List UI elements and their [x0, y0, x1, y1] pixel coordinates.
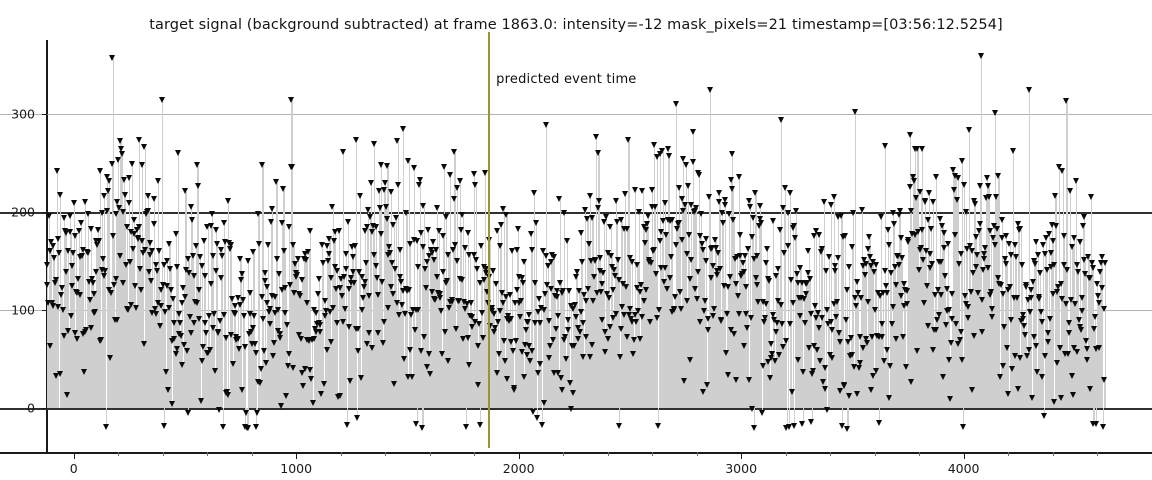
data-point-marker	[53, 277, 59, 283]
data-point-marker	[240, 297, 246, 303]
data-point-marker	[1053, 223, 1059, 229]
data-point-marker	[395, 182, 401, 188]
data-point-marker	[1015, 386, 1021, 392]
data-point-marker	[286, 224, 292, 230]
data-point-marker	[539, 422, 545, 428]
data-point-marker	[378, 162, 384, 168]
data-point-marker	[253, 350, 259, 356]
data-point-marker	[399, 302, 405, 308]
data-point-marker	[921, 300, 927, 306]
data-point-marker	[942, 273, 948, 279]
data-point-marker	[740, 260, 746, 266]
data-point-marker	[624, 334, 630, 340]
data-point-marker	[532, 280, 538, 286]
data-point-marker	[791, 423, 797, 429]
data-point-marker	[537, 361, 543, 367]
data-point-marker	[476, 321, 482, 327]
data-point-marker	[459, 212, 465, 218]
data-point-marker	[1017, 355, 1023, 361]
data-point-marker	[716, 190, 722, 196]
data-point-marker	[590, 298, 596, 304]
data-point-marker	[1039, 319, 1045, 325]
data-point-marker	[687, 276, 693, 282]
data-point-marker	[1102, 260, 1108, 266]
data-point-marker	[475, 382, 481, 388]
data-point-marker	[513, 338, 519, 344]
data-point-marker	[504, 376, 510, 382]
data-point-marker	[898, 235, 904, 241]
data-point-marker	[789, 389, 795, 395]
data-point-marker	[1101, 306, 1107, 312]
data-point-marker	[744, 325, 750, 331]
x-tick-label-0: 0	[70, 461, 78, 476]
data-point-marker	[1030, 279, 1036, 285]
data-point-marker	[571, 343, 577, 349]
y-tick-label-0: 0	[27, 400, 35, 415]
data-point-marker	[865, 246, 871, 252]
data-point-marker	[196, 287, 202, 293]
data-point-marker	[599, 281, 605, 287]
data-point-marker	[388, 284, 394, 290]
data-point-marker	[985, 265, 991, 271]
data-point-marker	[528, 231, 534, 237]
data-point-marker	[567, 380, 573, 386]
data-point-marker	[328, 275, 334, 281]
data-point-marker	[805, 248, 811, 254]
data-point-marker	[214, 241, 220, 247]
data-point-marker	[548, 286, 554, 292]
data-point-marker	[147, 240, 153, 246]
data-point-marker	[381, 319, 387, 325]
data-point-marker	[832, 268, 838, 274]
data-point-marker	[745, 246, 751, 252]
data-point-marker	[854, 391, 860, 397]
data-point-marker	[679, 237, 685, 243]
data-point-marker	[965, 304, 971, 310]
data-point-marker	[1069, 244, 1075, 250]
data-point-marker	[749, 406, 755, 412]
data-point-marker	[207, 347, 213, 353]
data-point-marker	[383, 204, 389, 210]
data-point-marker	[452, 242, 458, 248]
data-point-marker	[232, 311, 238, 317]
data-point-marker	[933, 327, 939, 333]
data-point-marker	[883, 283, 889, 289]
data-point-marker	[480, 335, 486, 341]
data-point-marker	[695, 269, 701, 275]
data-point-marker	[1058, 395, 1064, 401]
data-point-marker	[498, 222, 504, 228]
data-point-marker	[1027, 309, 1033, 315]
data-point-marker	[966, 127, 972, 133]
data-point-marker	[1064, 267, 1070, 273]
data-point-marker	[613, 198, 619, 204]
data-point-marker	[95, 227, 101, 233]
x-tick-major-1000	[296, 452, 297, 459]
data-point-marker	[196, 316, 202, 322]
data-point-marker	[363, 260, 369, 266]
data-point-marker	[139, 238, 145, 244]
data-point-marker	[411, 165, 417, 171]
data-point-marker	[44, 262, 50, 268]
data-point-marker	[992, 242, 998, 248]
data-point-marker	[737, 232, 743, 238]
data-point-marker	[72, 330, 78, 336]
data-point-marker	[607, 324, 613, 330]
data-point-marker	[787, 321, 793, 327]
data-point-marker	[61, 333, 67, 339]
data-point-marker	[120, 280, 126, 286]
data-point-marker	[311, 336, 317, 342]
data-point-marker	[624, 226, 630, 232]
x-tick-minor	[252, 452, 253, 456]
data-point-marker	[277, 331, 283, 337]
data-point-marker	[905, 237, 911, 243]
data-point-marker	[283, 393, 289, 399]
data-point-marker	[74, 336, 80, 342]
data-point-marker	[803, 291, 809, 297]
data-point-marker	[230, 361, 236, 367]
data-point-marker	[587, 354, 593, 360]
data-point-marker	[97, 168, 103, 174]
data-point-marker	[733, 377, 739, 383]
x-tick-minor	[697, 452, 698, 456]
x-tick-minor	[385, 452, 386, 456]
data-point-marker	[185, 410, 191, 416]
data-point-marker	[521, 259, 527, 265]
data-point-marker	[1079, 308, 1085, 314]
data-point-marker	[179, 300, 185, 306]
data-point-marker	[1075, 269, 1081, 275]
data-point-marker	[846, 264, 852, 270]
data-point-marker	[730, 217, 736, 223]
data-point-marker	[441, 164, 447, 170]
x-tick-label-4000: 4000	[948, 461, 980, 476]
data-point-marker	[759, 410, 765, 416]
data-point-marker	[722, 202, 728, 208]
data-point-marker	[418, 230, 424, 236]
data-point-marker	[450, 247, 456, 253]
data-point-marker	[975, 290, 981, 296]
data-point-marker	[100, 256, 106, 262]
data-point-marker	[352, 243, 358, 249]
data-point-marker	[1042, 353, 1048, 359]
data-point-marker	[829, 355, 835, 361]
data-point-marker	[858, 295, 864, 301]
data-point-marker	[368, 180, 374, 186]
data-point-marker	[541, 400, 547, 406]
data-point-marker	[365, 207, 371, 213]
data-point-marker	[166, 305, 172, 311]
data-point-marker	[1093, 421, 1099, 427]
data-point-marker	[225, 198, 231, 204]
data-point-marker	[354, 415, 360, 421]
data-point-marker	[385, 305, 391, 311]
data-point-marker	[725, 372, 731, 378]
data-point-marker	[887, 363, 893, 369]
data-point-marker	[136, 224, 142, 230]
data-point-marker	[973, 234, 979, 240]
data-point-marker	[178, 333, 184, 339]
data-point-marker	[573, 274, 579, 280]
data-point-marker	[961, 182, 967, 188]
data-point-marker	[781, 250, 787, 256]
data-point-marker	[990, 235, 996, 241]
data-point-marker	[434, 205, 440, 211]
data-point-marker	[157, 323, 163, 329]
data-point-marker	[458, 227, 464, 233]
data-point-marker	[454, 258, 460, 264]
data-point-marker	[965, 315, 971, 321]
data-point-marker	[778, 117, 784, 123]
data-point-marker	[275, 307, 281, 313]
data-point-marker	[1084, 346, 1090, 352]
data-point-marker	[930, 199, 936, 205]
plot-area: 0100200300	[47, 40, 1106, 452]
data-point-marker	[536, 296, 542, 302]
data-point-marker	[274, 256, 280, 262]
data-point-marker	[937, 216, 943, 222]
data-point-marker	[1096, 300, 1102, 306]
data-point-marker	[155, 178, 161, 184]
data-point-marker	[329, 204, 335, 210]
data-point-marker	[110, 233, 116, 239]
data-point-marker	[201, 238, 207, 244]
data-point-marker	[262, 278, 268, 284]
data-point-marker	[278, 403, 284, 409]
data-point-marker	[575, 336, 581, 342]
data-point-marker	[648, 260, 654, 266]
data-point-marker	[69, 263, 75, 269]
data-point-marker	[113, 276, 119, 282]
x-tick-minor	[563, 452, 564, 456]
data-point-marker	[280, 186, 286, 192]
data-point-marker	[463, 424, 469, 430]
data-point-marker	[202, 273, 208, 279]
data-point-marker	[656, 307, 662, 313]
data-point-marker	[792, 235, 798, 241]
data-point-marker	[615, 257, 621, 263]
data-point-marker	[415, 264, 421, 270]
data-point-marker	[497, 243, 503, 249]
data-point-marker	[189, 217, 195, 223]
data-point-marker	[300, 383, 306, 389]
data-point-marker	[995, 275, 1001, 281]
data-point-marker	[371, 252, 377, 258]
data-point-marker	[838, 213, 844, 219]
data-point-marker	[437, 291, 443, 297]
data-point-marker	[115, 157, 121, 163]
data-point-marker	[174, 264, 180, 270]
chart-title: target signal (background subtracted) at…	[0, 17, 1152, 33]
data-point-marker	[440, 269, 446, 275]
data-point-marker	[315, 291, 321, 297]
data-point-marker	[747, 204, 753, 210]
data-point-marker	[986, 194, 992, 200]
data-point-marker	[534, 415, 540, 421]
data-point-marker	[580, 354, 586, 360]
data-point-marker	[977, 221, 983, 227]
data-point-marker	[325, 258, 331, 264]
data-point-marker	[676, 220, 682, 226]
x-tick-minor	[430, 452, 431, 456]
data-point-marker	[527, 358, 533, 364]
data-point-marker	[393, 215, 399, 221]
data-point-marker	[728, 177, 734, 183]
data-point-marker	[146, 269, 152, 275]
data-point-marker	[812, 303, 818, 309]
data-point-marker	[63, 269, 69, 275]
data-point-marker	[104, 208, 110, 214]
data-point-marker	[359, 307, 365, 313]
data-point-marker	[239, 271, 245, 277]
data-point-marker	[731, 331, 737, 337]
data-point-marker	[75, 276, 81, 282]
data-point-marker	[102, 268, 108, 274]
data-point-marker	[748, 315, 754, 321]
data-point-marker	[546, 318, 552, 324]
data-point-marker	[788, 277, 794, 283]
data-point-marker	[56, 250, 62, 256]
data-point-marker	[816, 232, 822, 238]
data-point-marker	[85, 250, 91, 256]
data-point-marker	[543, 122, 549, 128]
data-point-marker	[715, 250, 721, 256]
data-point-marker	[1066, 330, 1072, 336]
data-point-marker	[182, 294, 188, 300]
data-point-marker	[690, 129, 696, 135]
data-point-marker	[127, 259, 133, 265]
data-point-marker	[1059, 168, 1065, 174]
data-point-marker	[898, 293, 904, 299]
data-point-marker	[191, 273, 197, 279]
data-point-marker	[699, 241, 705, 247]
data-point-marker	[778, 302, 784, 308]
data-point-marker	[1040, 242, 1046, 248]
data-point-marker	[105, 188, 111, 194]
data-point-marker	[637, 336, 643, 342]
data-point-marker	[462, 245, 468, 251]
data-point-marker	[401, 356, 407, 362]
data-point-marker	[317, 322, 323, 328]
data-point-marker	[667, 275, 673, 281]
data-point-marker	[673, 101, 679, 107]
data-point-marker	[357, 193, 363, 199]
data-point-marker	[583, 298, 589, 304]
data-point-marker	[141, 341, 147, 347]
data-point-marker	[257, 380, 263, 386]
data-point-marker	[444, 278, 450, 284]
data-point-marker	[702, 298, 708, 304]
data-point-marker	[391, 381, 397, 387]
data-point-marker	[970, 270, 976, 276]
data-point-marker	[820, 379, 826, 385]
data-point-marker	[153, 311, 159, 317]
data-point-marker	[362, 279, 368, 285]
data-point-marker	[107, 355, 113, 361]
data-point-marker	[130, 246, 136, 252]
data-point-marker	[57, 192, 63, 198]
data-point-marker	[331, 238, 337, 244]
data-point-marker	[482, 170, 488, 176]
data-point-marker	[849, 352, 855, 358]
data-point-marker	[550, 337, 556, 343]
data-point-marker	[141, 144, 147, 150]
data-point-marker	[773, 273, 779, 279]
data-point-marker	[969, 387, 975, 393]
data-point-marker	[330, 305, 336, 311]
data-point-marker	[287, 282, 293, 288]
data-point-marker	[591, 274, 597, 280]
data-point-marker	[215, 329, 221, 335]
data-point-marker	[1014, 295, 1020, 301]
data-point-marker	[1007, 284, 1013, 290]
data-point-marker	[388, 189, 394, 195]
data-point-marker	[159, 97, 165, 103]
data-point-marker	[1020, 316, 1026, 322]
data-point-marker	[564, 238, 570, 244]
data-point-marker	[901, 281, 907, 287]
data-point-marker	[85, 211, 91, 217]
data-point-marker	[250, 249, 256, 255]
data-point-marker	[647, 319, 653, 325]
data-point-marker	[466, 362, 472, 368]
data-point-marker	[678, 306, 684, 312]
data-point-marker	[387, 250, 393, 256]
data-point-marker	[472, 182, 478, 188]
data-point-marker	[822, 386, 828, 392]
data-point-marker	[515, 226, 521, 232]
x-tick-minor	[1053, 452, 1054, 456]
data-point-marker	[824, 307, 830, 313]
data-point-marker	[1091, 326, 1097, 332]
data-point-marker	[566, 288, 572, 294]
data-point-marker	[857, 360, 863, 366]
data-point-marker	[736, 311, 742, 317]
data-point-marker	[328, 339, 334, 345]
data-point-marker	[422, 266, 428, 272]
data-point-marker	[686, 232, 692, 238]
data-point-marker	[1045, 339, 1051, 345]
data-point-marker	[581, 292, 587, 298]
data-point-marker	[655, 423, 661, 429]
data-point-marker	[984, 175, 990, 181]
data-point-marker	[445, 358, 451, 364]
data-point-marker	[1077, 239, 1083, 245]
data-point-marker	[1061, 233, 1067, 239]
data-point-marker	[181, 342, 187, 348]
data-point-marker	[1051, 262, 1057, 268]
data-point-marker	[322, 298, 328, 304]
data-point-marker	[1100, 424, 1106, 430]
data-point-marker	[773, 329, 779, 335]
data-point-marker	[758, 220, 764, 226]
data-point-marker	[978, 53, 984, 59]
data-point-marker	[304, 300, 310, 306]
data-point-marker	[543, 253, 549, 259]
data-point-marker	[879, 334, 885, 340]
x-tick-minor	[474, 452, 475, 456]
data-point-marker	[1052, 193, 1058, 199]
data-point-marker	[831, 194, 837, 200]
data-point-marker	[973, 264, 979, 270]
data-point-marker	[814, 347, 820, 353]
data-point-marker	[703, 258, 709, 264]
data-point-marker	[324, 243, 330, 249]
data-point-marker	[525, 319, 531, 325]
data-point-marker	[237, 256, 243, 262]
data-point-marker	[797, 265, 803, 271]
